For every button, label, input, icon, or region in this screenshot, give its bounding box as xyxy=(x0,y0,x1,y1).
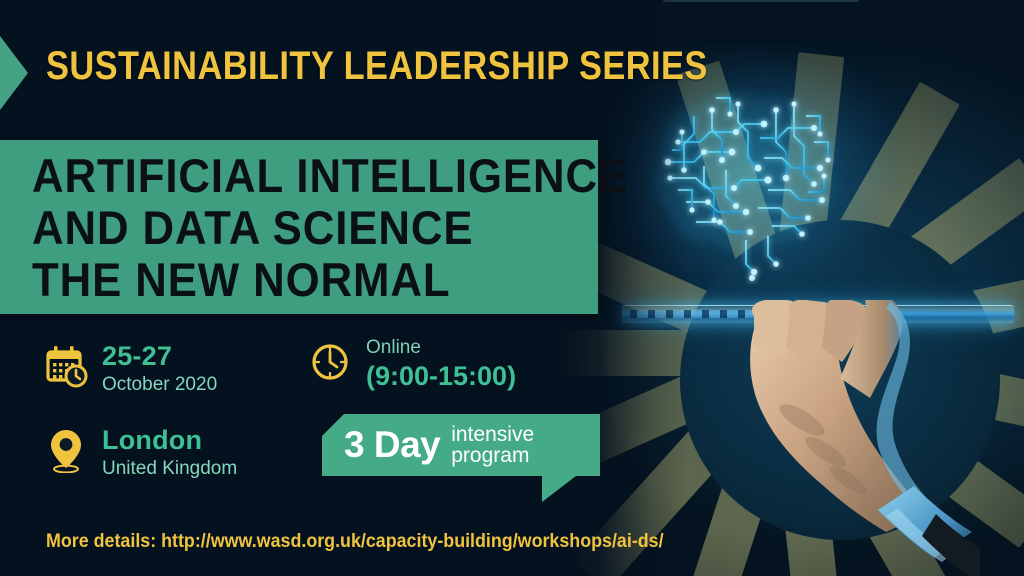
headline-line-1: ARTIFICIAL INTELLIGENCE xyxy=(32,150,628,202)
duration-badge-line2: program xyxy=(451,445,534,466)
details-url[interactable]: More details: http://www.wasd.org.uk/cap… xyxy=(46,531,664,553)
tablet-reflection xyxy=(663,0,862,2)
duration-badge-tail xyxy=(542,476,576,502)
clock-icon xyxy=(308,340,352,389)
event-location-secondary: United Kingdom xyxy=(102,459,237,478)
duration-badge-value: 3 Day xyxy=(344,424,440,466)
hand-holding-tablet xyxy=(690,300,980,576)
arrow-marker-icon xyxy=(0,36,28,110)
event-date-row: 25-27 October 2020 xyxy=(44,343,217,394)
map-pin-icon xyxy=(44,427,88,478)
headline-line-2: AND DATA SCIENCE xyxy=(32,202,628,254)
event-time-label: Online xyxy=(366,338,516,357)
series-kicker: SUSTAINABILITY LEADERSHIP SERIES xyxy=(46,44,708,89)
event-date-secondary: October 2020 xyxy=(102,375,217,394)
event-date-primary: 25-27 xyxy=(102,343,217,370)
duration-badge: 3 Day intensive program xyxy=(322,414,600,476)
page-title: ARTIFICIAL INTELLIGENCE AND DATA SCIENCE… xyxy=(32,150,628,306)
headline-line-3: THE NEW NORMAL xyxy=(32,254,628,306)
duration-badge-line1: intensive xyxy=(451,424,534,445)
event-location-row: London United Kingdom xyxy=(44,427,237,478)
event-time-row: Online (9:00-15:00) xyxy=(308,338,516,390)
event-location-primary: London xyxy=(102,427,237,454)
event-time-value: (9:00-15:00) xyxy=(366,363,516,390)
event-promo-poster: SUSTAINABILITY LEADERSHIP SERIES ARTIFIC… xyxy=(0,0,1024,576)
calendar-clock-icon xyxy=(44,344,88,393)
